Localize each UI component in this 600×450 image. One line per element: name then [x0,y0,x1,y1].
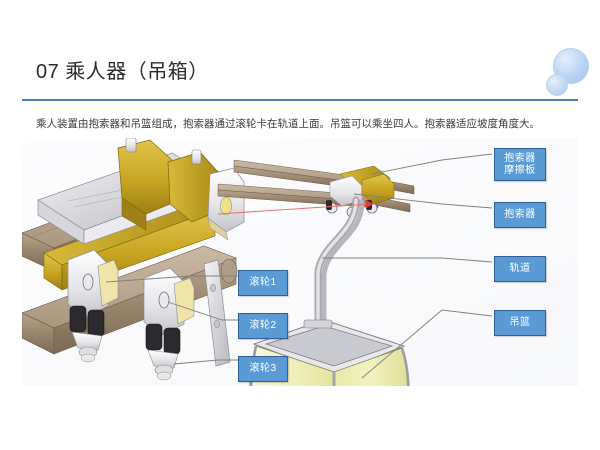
callout-track[interactable]: 轨道 [494,256,546,282]
callout-roller-1[interactable]: 滚轮1 [238,270,288,296]
title-divider [22,99,578,101]
circle-small-icon [546,74,568,96]
slide-canvas: 07 乘人器（吊箱） 乘人装置由抱索器和吊篮组成，抱索器通过滚轮卡在轨道上面。吊… [0,0,600,450]
callout-cabin[interactable]: 吊篮 [494,310,546,336]
callout-gripper[interactable]: 抱索器 [494,202,546,228]
callout-roller-3[interactable]: 滚轮3 [238,356,288,382]
page-title: 07 乘人器（吊箱） [36,58,209,86]
callout-gripper-friction-plate[interactable]: 抱索器 摩擦板 [494,148,546,181]
callout-roller-2[interactable]: 滚轮2 [238,313,288,339]
slide-description: 乘人装置由抱索器和吊篮组成，抱索器通过滚轮卡在轨道上面。吊篮可以乘坐四人。抱索器… [36,116,576,132]
